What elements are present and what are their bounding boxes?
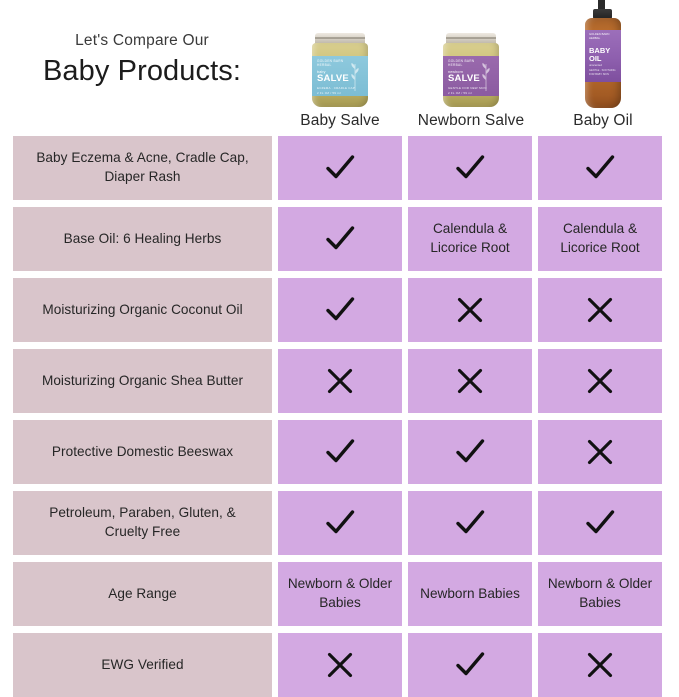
bottle-label-main: BABYOIL [589, 47, 610, 63]
jar-purple-newborn-salve-icon: GOLDEN BARNHERBAL newborn SALVE GENTLE F… [440, 33, 502, 107]
value-cell-newborn-salve [408, 633, 532, 697]
feature-label-cell: Base Oil: 6 Healing Herbs [13, 207, 272, 271]
jar-label-brand: GOLDEN BARNHERBAL [448, 59, 475, 68]
check-icon [323, 151, 357, 185]
product-image-wrap: GOLDEN BARNHERBAL BABYOIL unscented GENT… [540, 0, 666, 108]
feature-label-cell: Moisturizing Organic Coconut Oil [13, 278, 272, 342]
value-cell-newborn-salve [408, 136, 532, 200]
jar-blue-baby-salve-icon: GOLDEN BARNHERBAL baby SALVE ECZEMA · CR… [309, 33, 371, 107]
value-cell-baby-salve: Newborn & Older Babies [278, 562, 402, 626]
herb-sprig-icon [348, 61, 362, 91]
value-cell-newborn-salve [408, 491, 532, 555]
table-row: Age RangeNewborn & Older BabiesNewborn B… [13, 562, 666, 626]
value-cell-newborn-salve: Calendula & Licorice Root [408, 207, 532, 271]
bottle-label-foot: GENTLE · SOOTHINGFOR BABY SKIN [589, 69, 616, 77]
feature-label-cell: Moisturizing Organic Shea Butter [13, 349, 272, 413]
cross-icon [323, 648, 357, 682]
product-name-baby-oil: Baby Oil [540, 112, 666, 130]
value-cell-baby-salve [278, 633, 402, 697]
bottle-label: GOLDEN BARNHERBAL BABYOIL unscented GENT… [585, 30, 621, 82]
title-block: Let's Compare Our Baby Products: [13, 32, 271, 89]
feature-label-cell: Protective Domestic Beeswax [13, 420, 272, 484]
jar-label-brand: GOLDEN BARNHERBAL [317, 59, 344, 68]
bottle-label-brand: GOLDEN BARNHERBAL [589, 33, 609, 41]
value-cell-baby-salve [278, 349, 402, 413]
cross-icon [323, 364, 357, 398]
jar-label: GOLDEN BARNHERBAL newborn SALVE GENTLE F… [443, 56, 499, 96]
check-icon [323, 506, 357, 540]
feature-label-cell: Age Range [13, 562, 272, 626]
cross-icon [453, 293, 487, 327]
value-cell-baby-oil: Calendula & Licorice Root [538, 207, 662, 271]
bottle-label-sub: unscented [589, 63, 602, 67]
table-row: Baby Eczema & Acne, Cradle Cap, Diaper R… [13, 136, 666, 200]
product-name-baby-salve: Baby Salve [278, 112, 402, 130]
pump-bottle-baby-oil-icon: GOLDEN BARNHERBAL BABYOIL unscented GENT… [581, 0, 625, 108]
table-row: Moisturizing Organic Shea Butter [13, 349, 666, 413]
check-icon [453, 435, 487, 469]
jar-label-main: SALVE [317, 74, 349, 84]
cross-icon [583, 435, 617, 469]
product-header-baby-oil: GOLDEN BARNHERBAL BABYOIL unscented GENT… [540, 0, 666, 132]
table-row: EWG Verified [13, 633, 666, 697]
value-cell-baby-oil [538, 491, 662, 555]
value-cell-baby-oil: Newborn & Older Babies [538, 562, 662, 626]
product-image-wrap: GOLDEN BARNHERBAL baby SALVE ECZEMA · CR… [278, 11, 402, 107]
check-icon [323, 435, 357, 469]
feature-label-cell: EWG Verified [13, 633, 272, 697]
value-cell-baby-salve [278, 136, 402, 200]
check-icon [583, 506, 617, 540]
cross-icon [583, 648, 617, 682]
jar-body: GOLDEN BARNHERBAL newborn SALVE GENTLE F… [443, 43, 499, 107]
value-cell-baby-salve [278, 491, 402, 555]
jar-label: GOLDEN BARNHERBAL baby SALVE ECZEMA · CR… [312, 56, 368, 96]
cross-icon [453, 364, 487, 398]
bottle-body: GOLDEN BARNHERBAL BABYOIL unscented GENT… [585, 18, 621, 108]
check-icon [453, 506, 487, 540]
check-icon [323, 293, 357, 327]
check-icon [453, 648, 487, 682]
cross-icon [583, 364, 617, 398]
feature-label-cell: Baby Eczema & Acne, Cradle Cap, Diaper R… [13, 136, 272, 200]
product-image-wrap: GOLDEN BARNHERBAL newborn SALVE GENTLE F… [409, 11, 533, 107]
page-title: Baby Products: [13, 53, 271, 89]
product-header-baby-salve: GOLDEN BARNHERBAL baby SALVE ECZEMA · CR… [278, 0, 402, 132]
table-row: Base Oil: 6 Healing HerbsCalendula & Lic… [13, 207, 666, 271]
value-cell-newborn-salve [408, 349, 532, 413]
value-cell-baby-salve [278, 207, 402, 271]
table-row: Protective Domestic Beeswax [13, 420, 666, 484]
value-cell-baby-oil [538, 420, 662, 484]
value-cell-baby-oil [538, 278, 662, 342]
feature-label-cell: Petroleum, Paraben, Gluten, & Cruelty Fr… [13, 491, 272, 555]
value-cell-newborn-salve [408, 420, 532, 484]
comparison-table: Baby Eczema & Acne, Cradle Cap, Diaper R… [13, 136, 666, 697]
table-row: Moisturizing Organic Coconut Oil [13, 278, 666, 342]
check-icon [323, 222, 357, 256]
comparison-header: Let's Compare Our Baby Products: GOLDEN … [0, 0, 679, 132]
title-line-1: Let's Compare Our [13, 32, 271, 49]
value-cell-baby-salve [278, 420, 402, 484]
product-header-newborn-salve: GOLDEN BARNHERBAL newborn SALVE GENTLE F… [409, 0, 533, 132]
check-icon [583, 151, 617, 185]
herb-sprig-icon [479, 61, 493, 91]
value-cell-baby-salve [278, 278, 402, 342]
value-cell-newborn-salve [408, 278, 532, 342]
value-cell-baby-oil [538, 633, 662, 697]
jar-body: GOLDEN BARNHERBAL baby SALVE ECZEMA · CR… [312, 43, 368, 107]
cross-icon [583, 293, 617, 327]
value-cell-baby-oil [538, 349, 662, 413]
value-cell-newborn-salve: Newborn Babies [408, 562, 532, 626]
jar-label-main: SALVE [448, 74, 480, 84]
value-cell-baby-oil [538, 136, 662, 200]
check-icon [453, 151, 487, 185]
product-name-newborn-salve: Newborn Salve [409, 112, 533, 130]
table-row: Petroleum, Paraben, Gluten, & Cruelty Fr… [13, 491, 666, 555]
